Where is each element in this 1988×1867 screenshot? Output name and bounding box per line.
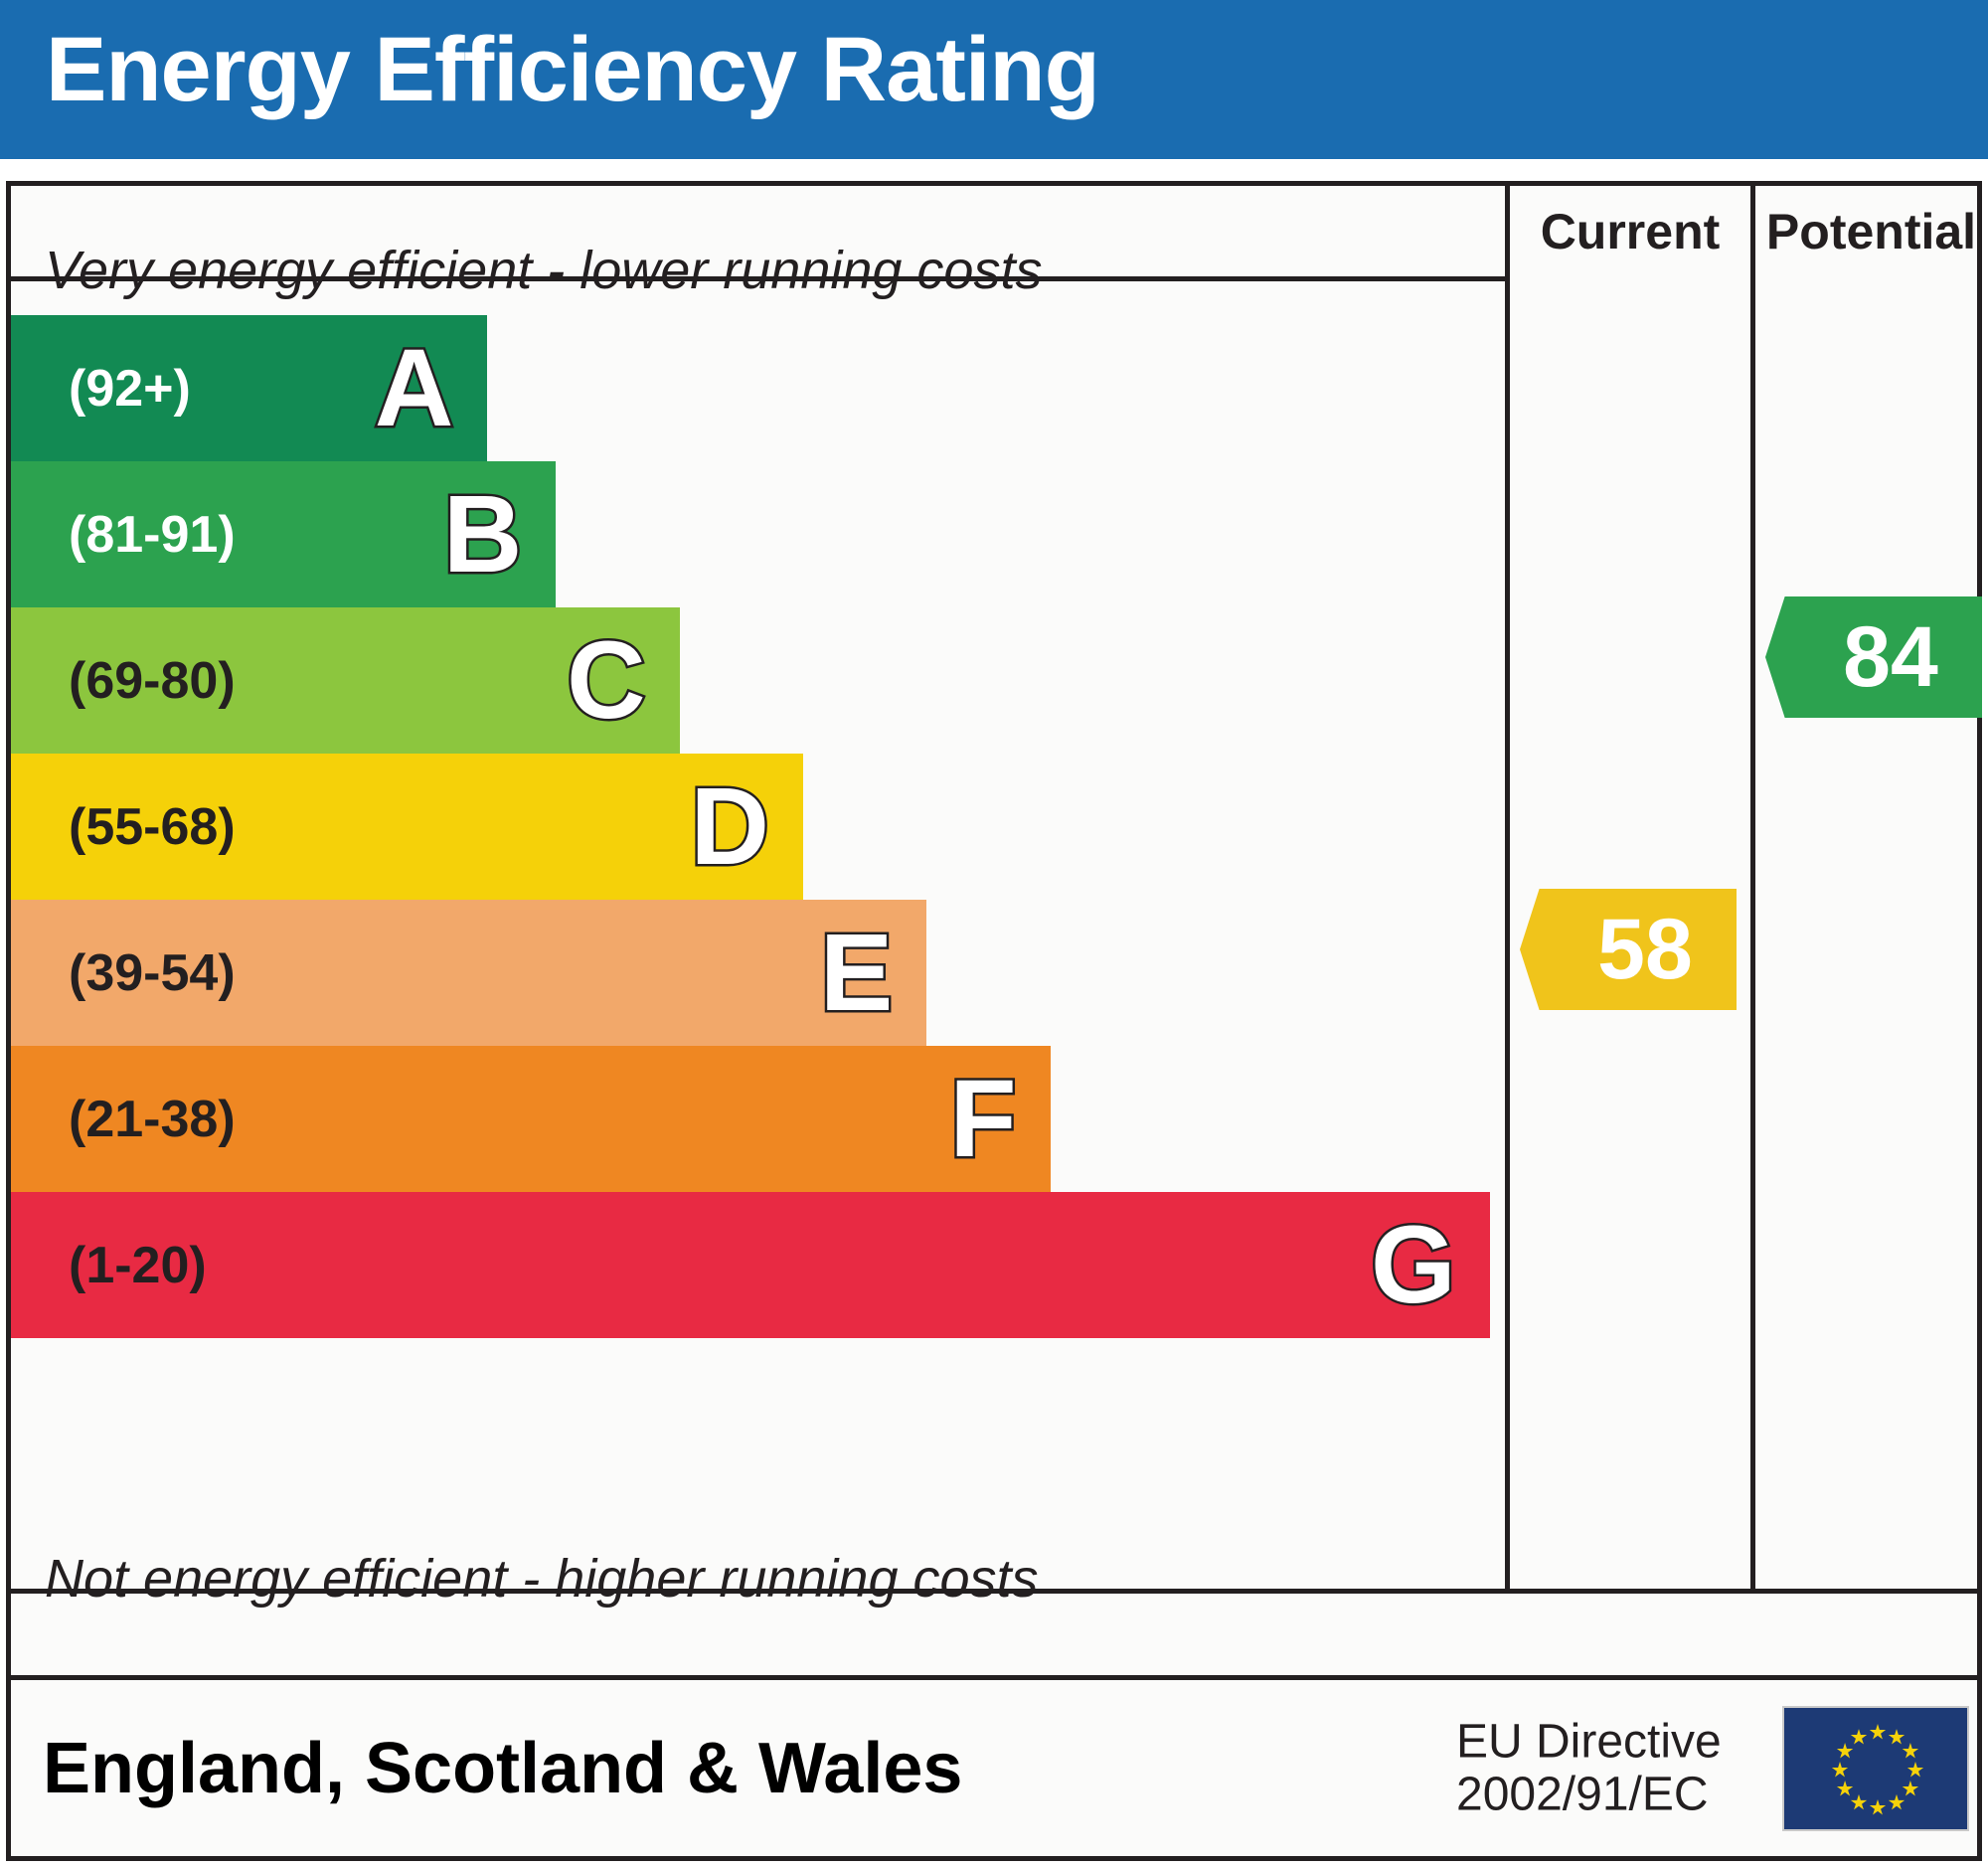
- eu-star-icon: [1832, 1762, 1849, 1779]
- eu-star-icon: [1837, 1743, 1854, 1760]
- eu-star-icon: [1889, 1794, 1905, 1811]
- band-g-range: (1-20): [69, 1236, 207, 1295]
- band-f-letter: F: [949, 1065, 1016, 1174]
- band-d-letter: D: [690, 772, 768, 882]
- band-b: (81-91) B: [11, 461, 556, 607]
- caption-not-efficient: Not energy efficient - higher running co…: [45, 1548, 1039, 1610]
- caption-very-efficient: Very energy efficient - lower running co…: [45, 240, 1042, 301]
- band-e-letter: E: [820, 919, 893, 1028]
- potential-rating-arrow: 84: [1765, 596, 1982, 718]
- column-rule-current: [1505, 276, 1510, 1589]
- band-g-letter: G: [1371, 1211, 1456, 1320]
- current-rating-arrow: 58: [1520, 889, 1737, 1010]
- footer-bar: England, Scotland & Wales EU Directive 2…: [6, 1680, 1982, 1861]
- eu-star-icon: [1870, 1724, 1887, 1741]
- eu-star-icon: [1837, 1781, 1854, 1797]
- band-g: (1-20) G: [11, 1192, 1490, 1338]
- energy-efficiency-certificate: Energy Efficiency Rating Current Potenti…: [0, 0, 1988, 1867]
- eu-star-icon: [1851, 1729, 1868, 1746]
- eu-flag-icon: [1782, 1706, 1969, 1831]
- rating-bands: (92+) A (81-91) B (69-80) C (55-68) D (3…: [11, 315, 1500, 1544]
- eu-star-icon: [1907, 1762, 1924, 1779]
- band-e-range: (39-54): [69, 943, 236, 1003]
- band-a-range: (92+): [69, 359, 191, 419]
- band-f-range: (21-38): [69, 1090, 236, 1149]
- band-c-letter: C: [567, 626, 645, 736]
- footer-divider: [11, 1589, 1977, 1594]
- directive-line-1: EU Directive: [1456, 1715, 1722, 1769]
- column-header-current: Current: [1505, 186, 1750, 276]
- footer-region-label: England, Scotland & Wales: [43, 1728, 962, 1809]
- eu-star-icon: [1851, 1794, 1868, 1811]
- band-d: (55-68) D: [11, 754, 803, 900]
- band-b-range: (81-91): [69, 505, 236, 565]
- directive-line-2: 2002/91/EC: [1456, 1769, 1722, 1822]
- band-c-range: (69-80): [69, 651, 236, 711]
- band-e: (39-54) E: [11, 900, 926, 1046]
- eu-star-icon: [1902, 1743, 1918, 1760]
- current-rating-value: 58: [1564, 901, 1693, 999]
- band-d-range: (55-68): [69, 797, 236, 857]
- band-b-letter: B: [443, 480, 522, 590]
- band-a: (92+) A: [11, 315, 487, 461]
- band-a-letter: A: [375, 334, 453, 443]
- eu-star-icon: [1889, 1729, 1905, 1746]
- column-header-potential: Potential: [1750, 186, 1987, 276]
- page-title: Energy Efficiency Rating: [46, 18, 1099, 122]
- title-bar: Energy Efficiency Rating: [0, 0, 1988, 159]
- potential-rating-value: 84: [1809, 608, 1938, 707]
- eu-star-icon: [1902, 1781, 1918, 1797]
- footer-directive-label: EU Directive 2002/91/EC: [1456, 1715, 1722, 1822]
- eu-star-icon: [1870, 1799, 1887, 1816]
- rating-chart-panel: Current Potential Very energy efficient …: [6, 181, 1982, 1680]
- band-c: (69-80) C: [11, 607, 680, 754]
- column-rule-potential: [1750, 276, 1755, 1589]
- band-f: (21-38) F: [11, 1046, 1051, 1192]
